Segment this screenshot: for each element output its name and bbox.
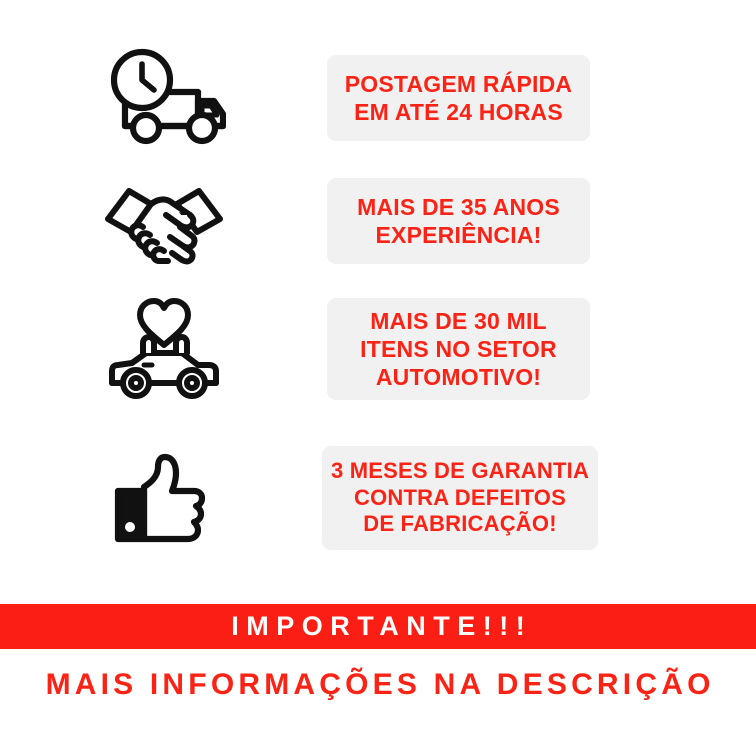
feature-badge: 3 MESES DE GARANTIA CONTRA DEFEITOS DE F… [322, 446, 598, 550]
feature-row: 3 MESES DE GARANTIA CONTRA DEFEITOS DE F… [0, 436, 756, 560]
promo-graphic: POSTAGEM RÁPIDA EM ATÉ 24 HORAS [0, 0, 756, 756]
feature-list: POSTAGEM RÁPIDA EM ATÉ 24 HORAS [0, 0, 756, 596]
feature-badge: POSTAGEM RÁPIDA EM ATÉ 24 HORAS [327, 55, 590, 141]
delivery-truck-clock-icon [0, 40, 327, 156]
feature-badge: MAIS DE 35 ANOS EXPERIÊNCIA! [327, 178, 590, 264]
thumbs-up-icon [0, 436, 327, 560]
handshake-icon [0, 164, 327, 278]
badge-line: EM ATÉ 24 HORAS [354, 98, 563, 126]
badge-line: EXPERIÊNCIA! [376, 221, 542, 249]
badge-line: MAIS DE 30 MIL [370, 307, 547, 335]
car-heart-icon [0, 288, 327, 410]
important-banner: IMPORTANTE!!! [0, 604, 756, 649]
badge-line: DE FABRICAÇÃO! [363, 511, 556, 538]
feature-badge: MAIS DE 30 MIL ITENS NO SETOR AUTOMOTIVO… [327, 298, 590, 400]
feature-row: MAIS DE 35 ANOS EXPERIÊNCIA! [0, 164, 756, 278]
badge-line: AUTOMOTIVO! [376, 363, 541, 391]
description-callout: MAIS INFORMAÇÕES NA DESCRIÇÃO [0, 660, 756, 710]
badge-line: MAIS DE 35 ANOS [357, 193, 560, 221]
description-callout-text: MAIS INFORMAÇÕES NA DESCRIÇÃO [41, 668, 714, 702]
important-banner-text: IMPORTANTE!!! [224, 611, 532, 642]
feature-row: POSTAGEM RÁPIDA EM ATÉ 24 HORAS [0, 40, 756, 156]
feature-row: MAIS DE 30 MIL ITENS NO SETOR AUTOMOTIVO… [0, 288, 756, 410]
badge-line: CONTRA DEFEITOS [354, 485, 566, 512]
badge-line: ITENS NO SETOR [360, 335, 557, 363]
badge-line: 3 MESES DE GARANTIA [331, 458, 589, 485]
badge-line: POSTAGEM RÁPIDA [345, 70, 572, 98]
